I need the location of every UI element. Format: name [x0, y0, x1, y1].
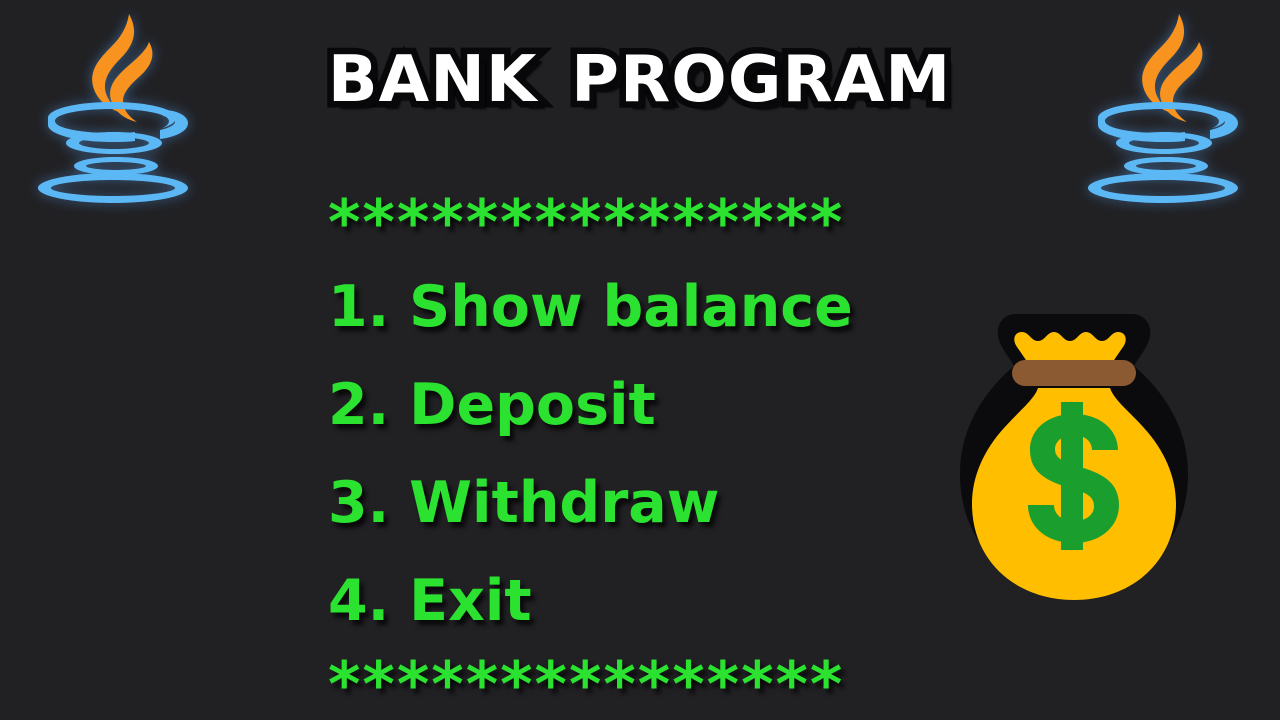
menu-item-show-balance[interactable]: 1. Show balance — [328, 258, 968, 356]
slide-canvas: Bank Program *************** 1. Show bal… — [0, 0, 1280, 720]
java-logo-icon-right — [1068, 6, 1258, 206]
menu-item-exit[interactable]: 4. Exit — [328, 552, 968, 650]
menu-divider-top: *************** — [328, 188, 968, 258]
menu-divider-bottom: *************** — [328, 650, 968, 720]
page-title: Bank Program — [328, 22, 951, 119]
java-logo-icon-left — [18, 6, 208, 206]
console-menu: *************** 1. Show balance 2. Depos… — [328, 188, 968, 720]
menu-item-withdraw[interactable]: 3. Withdraw — [328, 454, 968, 552]
menu-item-deposit[interactable]: 2. Deposit — [328, 356, 968, 454]
money-bag-icon — [948, 296, 1200, 606]
